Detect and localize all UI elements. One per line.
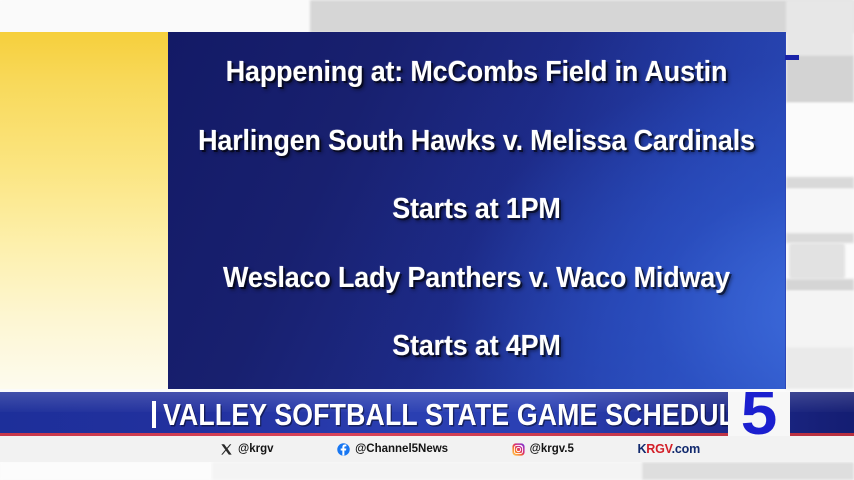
- social-handle-x: @krgv: [238, 443, 274, 455]
- bg-block-bottom-mid: [212, 462, 642, 480]
- social-strip: @krgv @Channel5News: [0, 436, 854, 462]
- bg-block-right-4: [786, 177, 854, 189]
- headline-accent-bar: [152, 401, 156, 428]
- schedule-line-venue: Happening at: McCombs Field in Austin: [199, 38, 754, 107]
- bg-block-header: [0, 0, 310, 33]
- social-item-x[interactable]: @krgv: [220, 443, 274, 456]
- social-handle-facebook: @Channel5News: [355, 443, 448, 455]
- social-handle-instagram: @krgv.5: [530, 443, 574, 455]
- facebook-icon: [337, 443, 350, 456]
- schedule-line-game2: Weslaco Lady Panthers v. Waco Midway: [199, 244, 754, 313]
- bg-block-top-gray: [310, 0, 854, 33]
- schedule-line-game2-time: Starts at 4PM: [199, 312, 754, 381]
- lower-third-banner: VALLEY SOFTBALL STATE GAME SCHEDULE: [0, 392, 854, 436]
- website-url-rgv: RGV: [646, 442, 671, 456]
- panel-right-tick: [785, 55, 799, 60]
- bg-block-right-3: [786, 103, 854, 177]
- website-url: KRGV.com: [637, 442, 700, 456]
- social-strip-inner: @krgv @Channel5News: [150, 436, 730, 462]
- lower-third-headline: VALLEY SOFTBALL STATE GAME SCHEDULE: [163, 399, 753, 430]
- social-item-facebook[interactable]: @Channel5News: [337, 443, 448, 456]
- bg-block-right-9: [786, 347, 854, 389]
- bg-block-right-2: [786, 55, 854, 103]
- bg-block-right-5: [786, 189, 854, 233]
- bg-block-right-card: [789, 243, 845, 279]
- social-item-instagram[interactable]: @krgv.5: [512, 443, 574, 456]
- schedule-lines: Happening at: McCombs Field in Austin Ha…: [168, 32, 785, 389]
- bg-block-right-6: [786, 233, 854, 243]
- bg-block-bottom-right: [642, 462, 854, 480]
- schedule-graphic-panel: Happening at: McCombs Field in Austin Ha…: [168, 32, 785, 389]
- social-item-website[interactable]: KRGV.com: [637, 442, 700, 456]
- bg-block-right-8: [786, 291, 854, 347]
- schedule-line-game1: Harlingen South Hawks v. Melissa Cardina…: [199, 107, 754, 176]
- yellow-accent-panel: [0, 32, 168, 389]
- website-url-com: .com: [672, 442, 700, 456]
- instagram-icon: [512, 443, 525, 456]
- schedule-line-game1-time: Starts at 1PM: [199, 175, 754, 244]
- bg-block-bottom-left: [0, 462, 212, 480]
- bg-block-right-1: [786, 0, 854, 55]
- website-url-k: K: [637, 442, 646, 456]
- bg-block-right-7: [786, 279, 854, 291]
- broadcast-screenshot: Happening at: McCombs Field in Austin Ha…: [0, 0, 854, 480]
- x-twitter-icon: [220, 443, 233, 456]
